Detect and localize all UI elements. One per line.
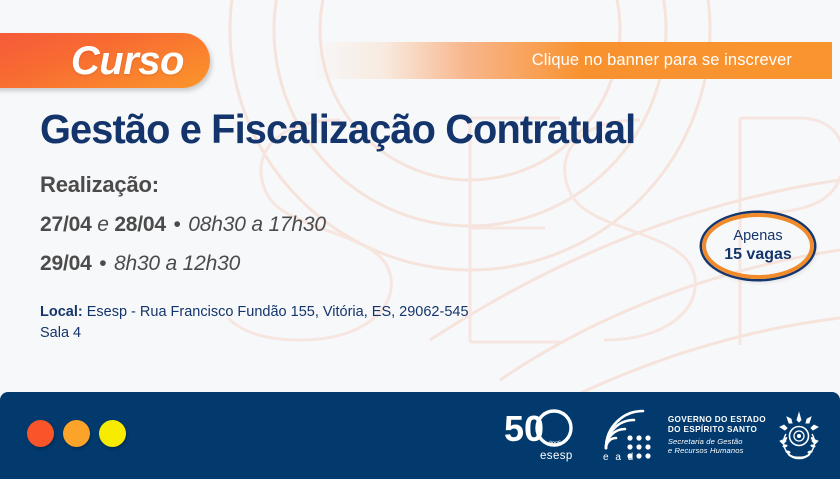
government-line2: DO ESPÍRITO SANTO [668,425,766,435]
schedule-line-2: 29/04 • 8h30 a 12h30 [40,252,800,276]
cta-ribbon-label: Clique no banner para se inscrever [532,51,792,70]
curso-badge-label: Curso [71,41,184,81]
location-label: Local: [40,304,83,320]
esesp-50-anos-logo-icon: 50 anos esesp [502,407,588,465]
location-room: Sala 4 [40,323,600,344]
dot-yellow-icon [99,420,126,447]
vagas-badge: Apenas 15 vagas [702,213,814,279]
ead-logo-letters: e a d [603,452,635,463]
schedule-time-1: 08h30 a 17h30 [188,213,326,236]
course-banner[interactable]: Curso Clique no banner para se inscrever… [0,0,840,479]
government-sub2: e Recursos Humanos [668,447,766,456]
vagas-badge-count: 15 vagas [724,245,792,264]
schedule-time-2: 8h30 a 12h30 [114,252,240,275]
banner-content: Gestão e Fiscalização Contratual Realiza… [40,108,800,344]
schedule-line-1: 27/04 e 28/04 • 08h30 a 17h30 [40,213,800,237]
vagas-badge-top-text: Apenas [733,228,782,245]
curso-badge: Curso [0,33,210,88]
schedule-separator-1: • [166,213,188,236]
location-value: Esesp - Rua Francisco Fundão 155, Vitóri… [83,304,469,320]
schedule-date-1b: 28/04 [114,213,166,236]
government-text: GOVERNO DO ESTADO DO ESPÍRITO SANTO Secr… [668,415,766,455]
schedule-date-1a: 27/04 [40,213,92,236]
course-title: Gestão e Fiscalização Contratual [40,108,777,151]
footer-bar: 50 anos esesp [0,392,840,479]
dot-red-icon [27,420,54,447]
cta-ribbon[interactable]: Clique no banner para se inscrever [312,42,832,79]
coat-of-arms-icon [776,410,822,462]
esesp-logo-wordmark: esesp [540,450,573,462]
location-block: Local: Esesp - Rua Francisco Fundão 155,… [40,302,600,343]
realizacao-label: Realização: [40,172,800,198]
ead-logo-icon: e a d [602,408,654,464]
footer-logos: 50 anos esesp [502,392,822,479]
schedule-connector-1: e [92,213,115,236]
schedule-date-2a: 29/04 [40,252,92,275]
government-line1: GOVERNO DO ESTADO [668,415,766,425]
government-logo: GOVERNO DO ESTADO DO ESPÍRITO SANTO Secr… [668,410,822,462]
schedule-separator-2: • [92,252,114,275]
dot-orange-icon [63,420,90,447]
footer-dots [27,420,126,447]
